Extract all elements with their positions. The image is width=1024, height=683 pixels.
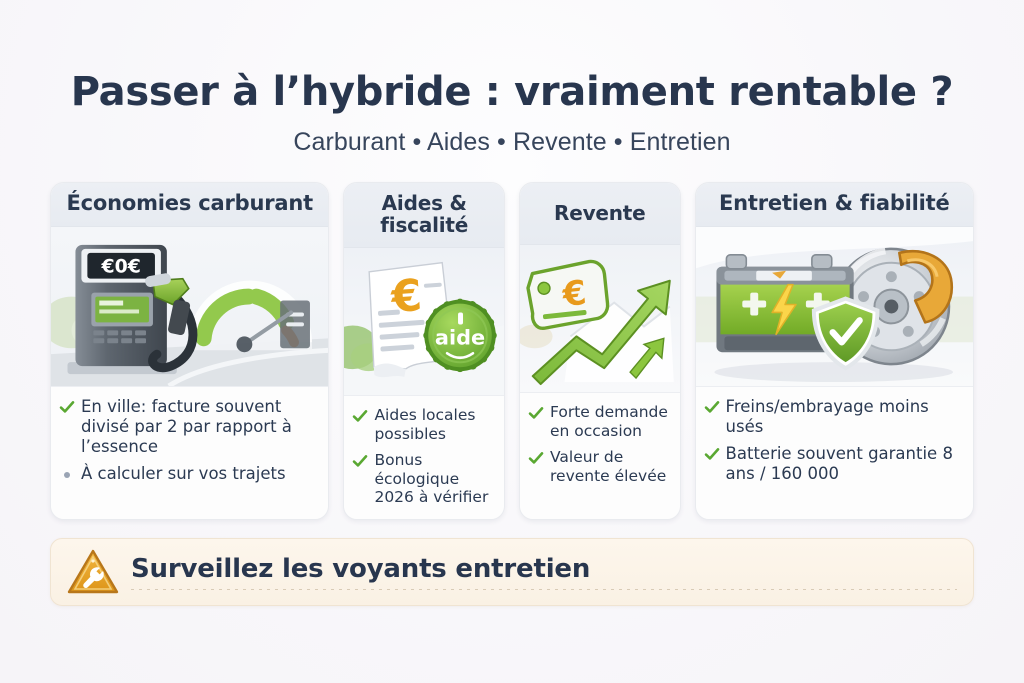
bullet-text: Forte demande en occasion xyxy=(550,403,670,441)
note-item: À calculer sur vos trajets xyxy=(59,464,318,484)
banner-text: Surveillez les voyants entretien xyxy=(131,554,957,584)
card-title: Aides & fiscalité xyxy=(352,192,496,237)
check-icon xyxy=(704,446,720,462)
bullet-text: En ville: facture souvent divisé par 2 p… xyxy=(81,397,318,457)
card-title: Revente xyxy=(554,202,646,224)
bullet-item: Batterie souvent garantie 8 ans / 160 00… xyxy=(704,444,963,484)
card-header: Aides & fiscalité xyxy=(344,183,504,248)
svg-text:aide: aide xyxy=(435,325,485,349)
fuel-pump-illustration: €0€ xyxy=(51,227,328,387)
svg-text:€0€: €0€ xyxy=(100,256,140,278)
svg-text:€: € xyxy=(389,270,424,323)
battery-brake-illustration xyxy=(696,227,973,387)
resale-growth-illustration: € xyxy=(520,245,680,393)
bullet-text: Bonus écologique 2026 à vérifier xyxy=(374,451,494,508)
bullet-item: Freins/embrayage moins usés xyxy=(704,397,963,437)
bullet-item: Aides locales possibles xyxy=(352,406,494,444)
svg-text:€: € xyxy=(560,273,588,314)
check-icon xyxy=(528,450,544,466)
bullet-item: En ville: facture souvent divisé par 2 p… xyxy=(59,397,318,457)
warning-wrench-icon xyxy=(67,547,119,597)
check-icon xyxy=(352,453,368,469)
card-header: Entretien & fiabilité xyxy=(696,183,973,227)
card-body: Freins/embrayage moins usés Batterie sou… xyxy=(696,387,973,519)
bullet-item: Forte demande en occasion xyxy=(528,403,670,441)
infographic-page: Passer à l’hybride : vraiment rentable ?… xyxy=(0,0,1024,683)
bullet-item: Valeur de revente élevée xyxy=(528,448,670,486)
card-header: Revente xyxy=(520,183,680,245)
card-row: Économies carburant xyxy=(50,182,974,522)
bullet-text: Batterie souvent garantie 8 ans / 160 00… xyxy=(726,444,963,484)
bullet-text: Freins/embrayage moins usés xyxy=(726,397,963,437)
maintenance-warning-banner: Surveillez les voyants entretien xyxy=(50,538,974,606)
card-body: En ville: facture souvent divisé par 2 p… xyxy=(51,387,328,519)
aid-document-illustration: € xyxy=(344,248,504,396)
bullet-text: Aides locales possibles xyxy=(374,406,494,444)
card-header: Économies carburant xyxy=(51,183,328,227)
header: Passer à l’hybride : vraiment rentable ?… xyxy=(0,0,1024,157)
card-body: Aides locales possibles Bonus écologique… xyxy=(344,396,504,519)
card-economies-carburant[interactable]: Économies carburant xyxy=(50,182,329,520)
bullet-text: Valeur de revente élevée xyxy=(550,448,670,486)
dot-icon xyxy=(64,472,70,478)
banner-content: Surveillez les voyants entretien xyxy=(131,554,957,590)
card-entretien-fiabilite[interactable]: Entretien & fiabilité xyxy=(695,182,974,520)
check-icon xyxy=(352,408,368,424)
page-subtitle: Carburant • Aides • Revente • Entretien xyxy=(0,128,1024,157)
check-icon xyxy=(704,399,720,415)
dotted-rule xyxy=(131,589,957,590)
card-title: Économies carburant xyxy=(67,192,313,216)
check-icon xyxy=(528,405,544,421)
page-title: Passer à l’hybride : vraiment rentable ? xyxy=(0,70,1024,114)
card-aides-fiscalite[interactable]: Aides & fiscalité xyxy=(343,182,505,520)
note-text: À calculer sur vos trajets xyxy=(81,464,286,484)
card-title: Entretien & fiabilité xyxy=(719,192,950,216)
card-body: Forte demande en occasion Valeur de reve… xyxy=(520,393,680,519)
bullet-item: Bonus écologique 2026 à vérifier xyxy=(352,451,494,508)
card-revente[interactable]: Revente xyxy=(519,182,681,520)
check-icon xyxy=(59,399,75,415)
